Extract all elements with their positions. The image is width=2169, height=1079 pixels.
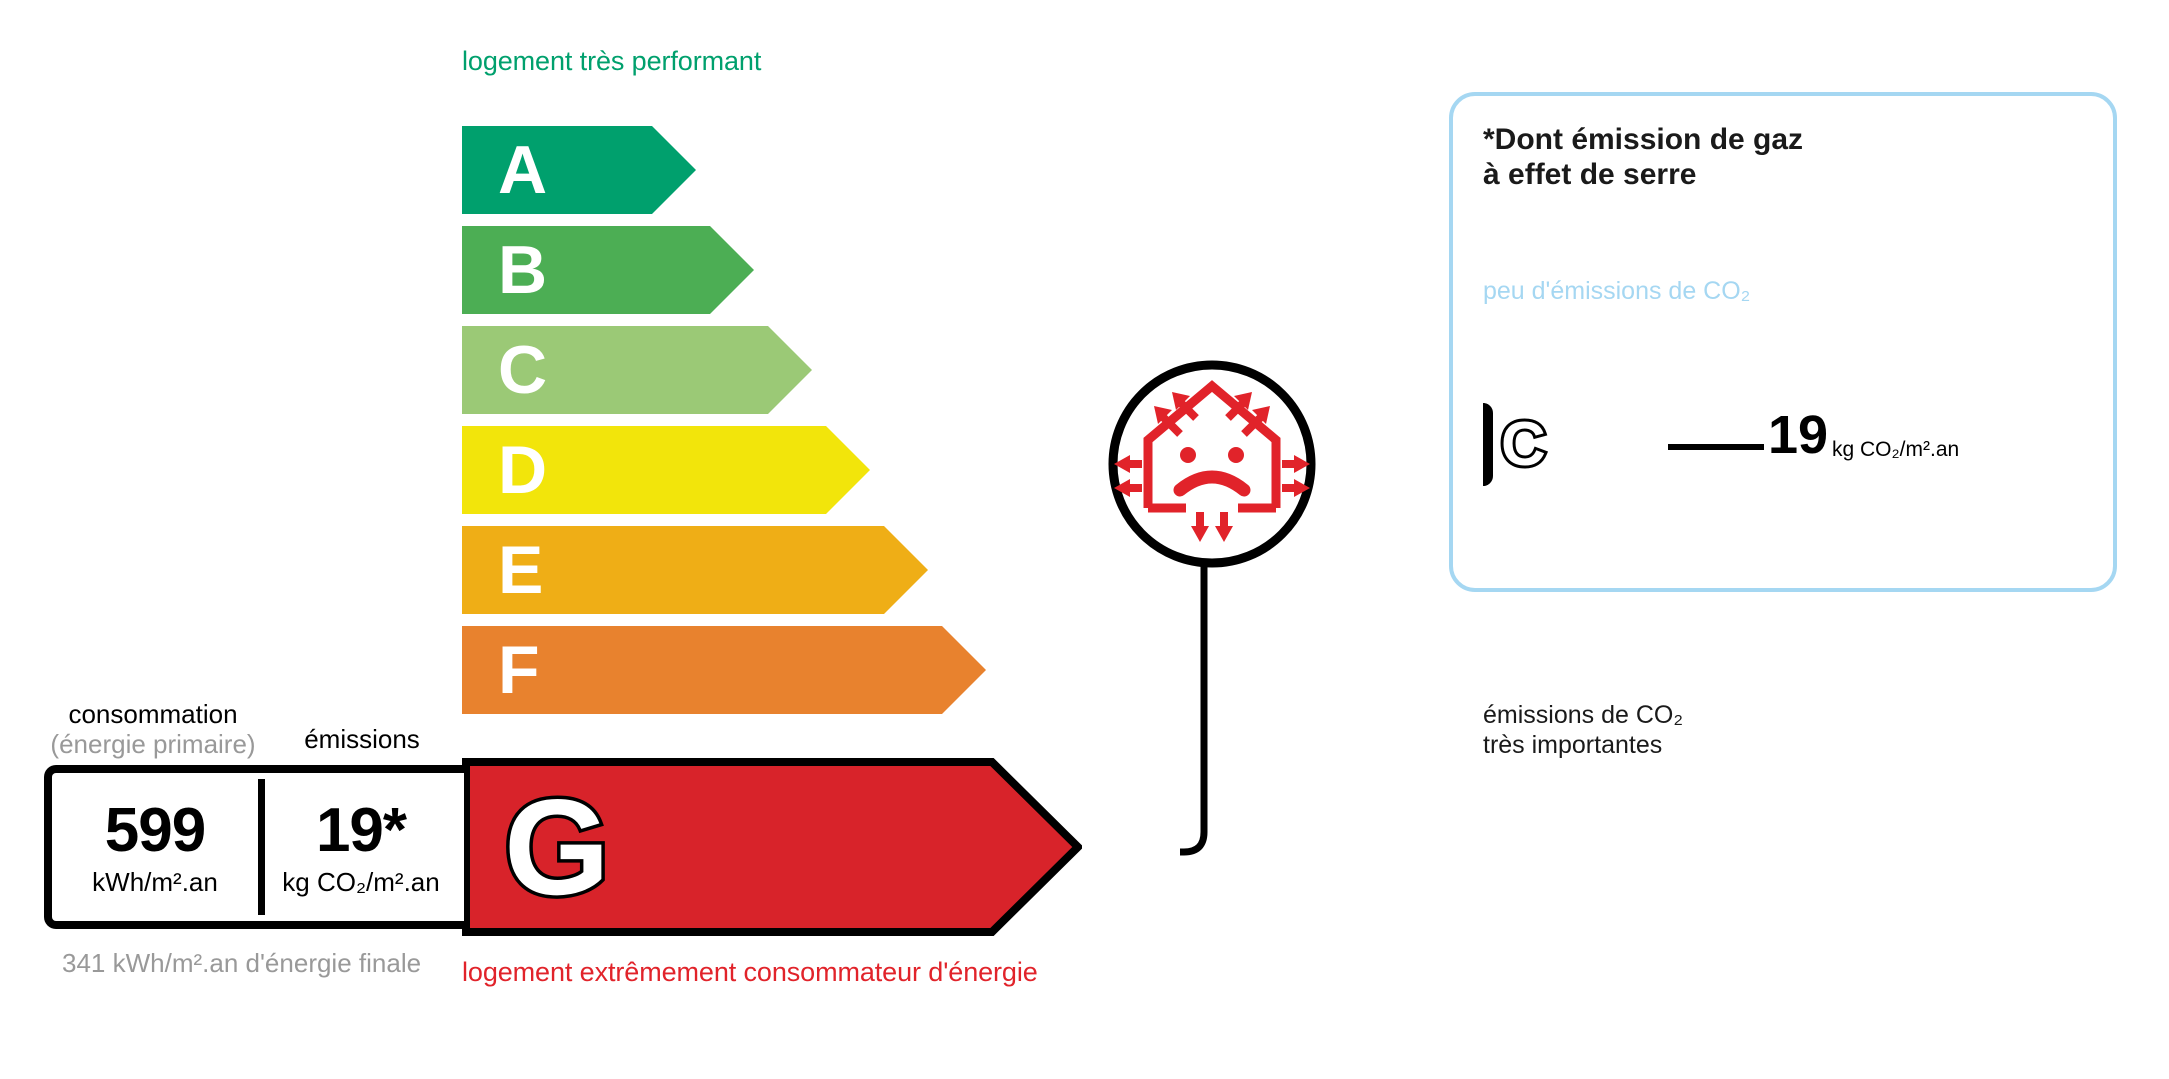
co2-band-g[interactable]: G xyxy=(1483,634,1785,680)
energy-band-f[interactable]: F xyxy=(462,626,986,714)
sad-house-heat-loss-icon xyxy=(1108,360,1316,568)
co2-band-a[interactable]: A xyxy=(1483,307,1581,353)
energy-band-e[interactable]: E xyxy=(462,526,928,614)
co2-band-c-letter: C xyxy=(1501,414,1546,476)
energy-band-a[interactable]: A xyxy=(462,126,696,214)
co2-band-d[interactable]: D xyxy=(1483,490,1683,536)
co2-band-g-letter: G xyxy=(1496,639,1525,676)
energy-band-a-shape xyxy=(462,126,696,214)
co2-bottom-caption: émissions de CO₂ très importantes xyxy=(1483,700,1683,760)
label-emissions: émissions xyxy=(264,725,460,755)
consumption-unit: kWh/m².an xyxy=(92,869,218,895)
energy-band-c[interactable]: C xyxy=(462,326,812,414)
co2-value-unit: kg CO₂/m².an xyxy=(1832,439,1959,460)
label-consommation: consommation (énergie primaire) xyxy=(44,700,262,759)
co2-band-a-letter: A xyxy=(1496,312,1523,349)
energy-band-c-shape xyxy=(462,326,812,414)
emissions-value: 19* xyxy=(316,800,406,862)
eye-right xyxy=(1228,447,1244,463)
co2-band-e-letter: E xyxy=(1496,543,1521,580)
energy-band-g-letter: G xyxy=(504,779,610,915)
energy-band-g-selected[interactable]: G xyxy=(462,758,1082,936)
label-consommation-main: consommation xyxy=(68,699,237,729)
co2-band-b[interactable]: B xyxy=(1483,355,1615,401)
emissions-unit: kg CO₂/m².an xyxy=(282,869,439,895)
co2-top-caption: peu d'émissions de CO₂ xyxy=(1483,277,1750,306)
energy-band-e-shape xyxy=(462,526,928,614)
energy-band-b-shape xyxy=(462,226,754,314)
co2-panel-title: *Dont émission de gaz à effet de serre xyxy=(1483,122,1803,192)
co2-band-e[interactable]: E xyxy=(1483,538,1717,584)
co2-band-b-letter: B xyxy=(1496,360,1523,397)
emissions-cell: 19* kg CO₂/m².an xyxy=(258,773,464,921)
co2-band-d-letter: D xyxy=(1496,495,1523,532)
primary-energy-cell: 599 kWh/m².an xyxy=(52,773,258,921)
energy-band-b[interactable]: B xyxy=(462,226,754,314)
final-energy-note: 341 kWh/m².an d'énergie finale xyxy=(62,948,421,979)
energy-bottom-caption: logement extrêmement consommateur d'éner… xyxy=(462,957,1038,988)
energy-band-f-shape xyxy=(462,626,986,714)
energy-performance-scale: logement très performant A B C D E xyxy=(0,0,1400,1079)
eye-left xyxy=(1180,447,1196,463)
label-consommation-sub: (énergie primaire) xyxy=(44,730,262,760)
co2-band-c-bar xyxy=(1483,403,1493,486)
consumption-values-box: 599 kWh/m².an 19* kg CO₂/m².an xyxy=(44,765,464,929)
co2-band-c-selected[interactable]: C xyxy=(1483,403,1669,486)
consumption-value: 599 xyxy=(105,800,205,862)
badge-connector-line xyxy=(1180,560,1300,860)
co2-value: 19 xyxy=(1768,408,1828,462)
co2-band-f-letter: F xyxy=(1496,591,1519,628)
energy-band-d-shape xyxy=(462,426,870,514)
co2-leader-line xyxy=(1668,444,1764,450)
energy-band-d[interactable]: D xyxy=(462,426,870,514)
co2-band-f[interactable]: F xyxy=(1483,586,1751,632)
energy-top-caption: logement très performant xyxy=(462,46,761,77)
